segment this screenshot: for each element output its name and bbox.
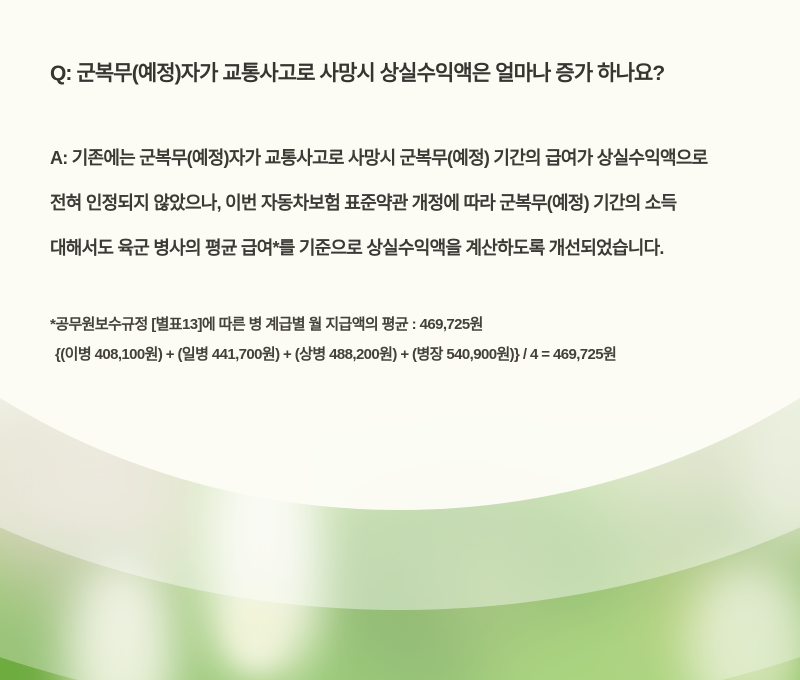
- footnote-block: *공무원보수규정 [별표13]에 따른 병 계급별 월 지급액의 평균 : 46…: [50, 310, 770, 370]
- answer-line-2: 전혀 인정되지 않았으나, 이번 자동차보험 표준약관 개정에 따라 군복무(예…: [50, 181, 770, 226]
- footnote-line-2: {(이병 408,100원) + (일병 441,700원) + (상병 488…: [50, 340, 770, 370]
- content-layer: Q: 군복무(예정)자가 교통사고로 사망시 상실수익액은 얼마나 증가 하나요…: [0, 0, 800, 680]
- question-text: Q: 군복무(예정)자가 교통사고로 사망시 상실수익액은 얼마나 증가 하나요…: [50, 57, 664, 87]
- faq-card: Q: 군복무(예정)자가 교통사고로 사망시 상실수익액은 얼마나 증가 하나요…: [0, 0, 800, 680]
- footnote-line-1: *공무원보수규정 [별표13]에 따른 병 계급별 월 지급액의 평균 : 46…: [50, 310, 770, 340]
- answer-line-1: A: 기존에는 군복무(예정)자가 교통사고로 사망시 군복무(예정) 기간의 …: [50, 136, 770, 181]
- answer-line-3: 대해서도 육군 병사의 평균 급여*를 기준으로 상실수익액을 계산하도록 개선…: [50, 226, 770, 271]
- answer-block: A: 기존에는 군복무(예정)자가 교통사고로 사망시 군복무(예정) 기간의 …: [50, 136, 770, 271]
